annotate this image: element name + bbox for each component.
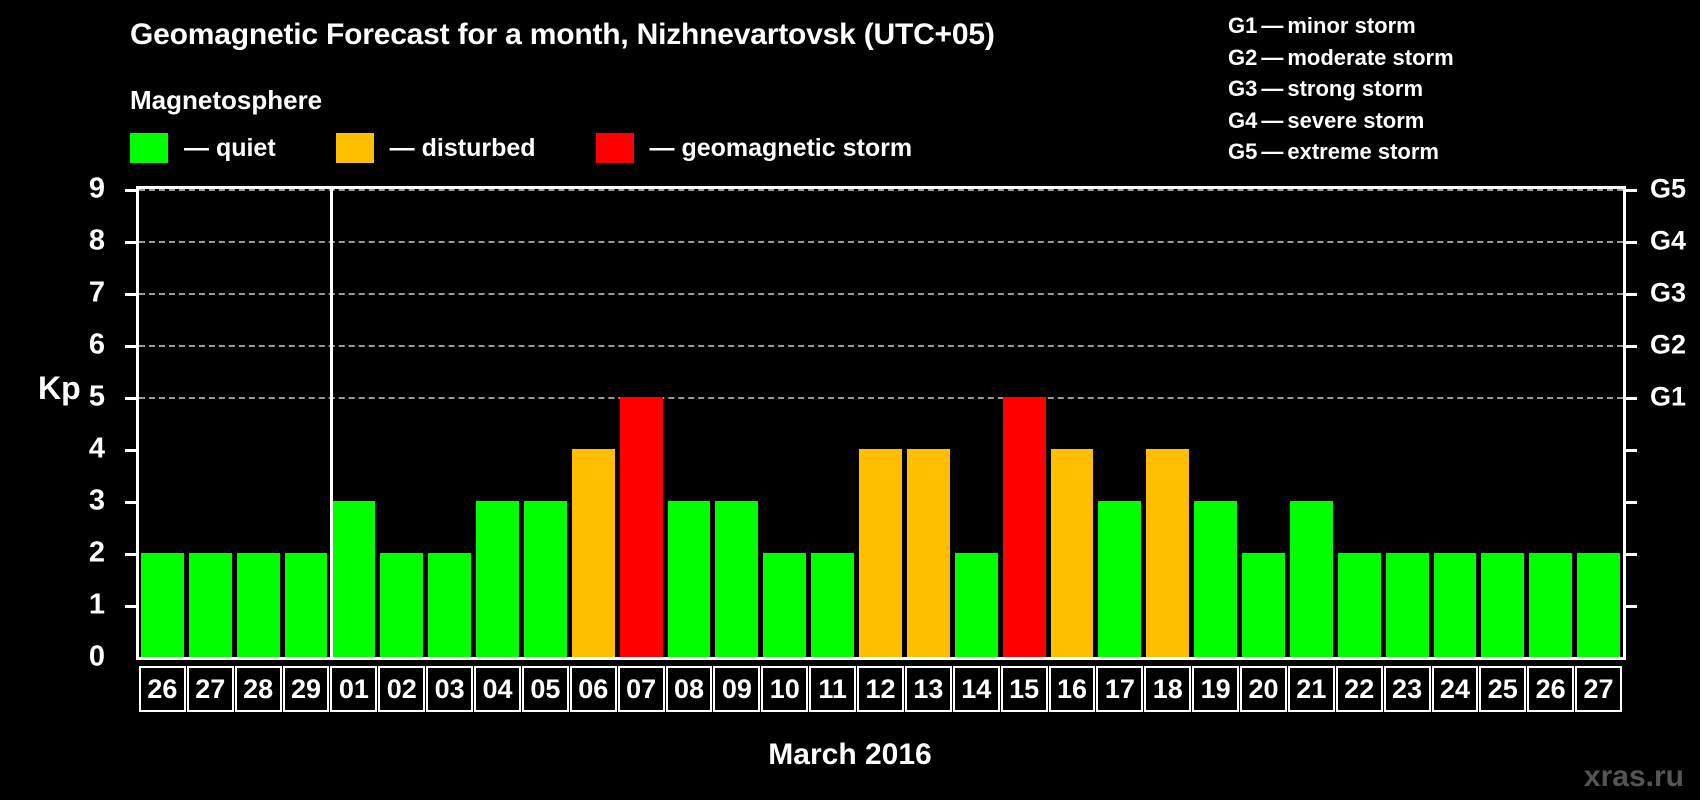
y-tick-left-9 <box>125 189 138 192</box>
g-scale-dash: — <box>1257 10 1287 42</box>
chart-plot-area <box>136 186 1626 660</box>
forecast-divider-line <box>330 189 333 657</box>
g-scale-row-g2: G2—moderate storm <box>1228 42 1454 74</box>
g-scale-code: G1 <box>1228 10 1257 42</box>
g-scale-row-g4: G4—severe storm <box>1228 105 1454 137</box>
date-axis: 2627282901020304050607080910111213141516… <box>136 666 1626 712</box>
g-scale-dash: — <box>1257 73 1287 105</box>
legend-swatch-disturbed <box>336 133 374 163</box>
date-cell-2[interactable]: 28 <box>235 666 282 712</box>
date-cell-9[interactable]: 06 <box>570 666 617 712</box>
g-axis-label-g2: G2 <box>1650 330 1686 361</box>
g-scale-code: G4 <box>1228 105 1257 137</box>
date-cell-20[interactable]: 17 <box>1096 666 1143 712</box>
y-tick-right-7 <box>1624 293 1637 296</box>
bar-12 <box>859 449 902 657</box>
y-tick-left-6 <box>125 345 138 348</box>
legend-label-storm: — geomagnetic storm <box>650 134 913 163</box>
y-tick-right-6 <box>1624 345 1637 348</box>
bar-27 <box>1577 553 1620 657</box>
date-cell-10[interactable]: 07 <box>618 666 665 712</box>
y-tick-left-3 <box>125 501 138 504</box>
bar-01 <box>332 501 375 657</box>
date-cell-19[interactable]: 16 <box>1049 666 1096 712</box>
g-scale-dash: — <box>1257 42 1287 74</box>
y-tick-right-9 <box>1624 189 1637 192</box>
date-cell-21[interactable]: 18 <box>1144 666 1191 712</box>
y-axis-label-7: 7 <box>65 277 105 310</box>
bar-25 <box>1481 553 1524 657</box>
bar-23 <box>1386 553 1429 657</box>
y-axis-label-6: 6 <box>65 329 105 362</box>
g-scale-row-g1: G1—minor storm <box>1228 10 1454 42</box>
g-scale-code: G3 <box>1228 73 1257 105</box>
bar-02 <box>380 553 423 657</box>
bar-10 <box>763 553 806 657</box>
date-cell-4[interactable]: 01 <box>330 666 377 712</box>
y-tick-right-8 <box>1624 241 1637 244</box>
date-cell-8[interactable]: 05 <box>522 666 569 712</box>
bar-15 <box>1003 397 1046 657</box>
date-cell-26[interactable]: 23 <box>1384 666 1431 712</box>
bar-21 <box>1290 501 1333 657</box>
legend-label-quiet: — quiet <box>184 134 276 163</box>
bar-29 <box>285 553 328 657</box>
g-scale-row-g3: G3—strong storm <box>1228 73 1454 105</box>
bar-03 <box>428 553 471 657</box>
y-tick-left-8 <box>125 241 138 244</box>
date-cell-3[interactable]: 29 <box>283 666 330 712</box>
y-tick-right-1 <box>1624 605 1637 608</box>
legend-entry-quiet: — quiet <box>130 133 276 163</box>
date-cell-15[interactable]: 12 <box>857 666 904 712</box>
y-tick-right-5 <box>1624 397 1637 400</box>
bar-11 <box>811 553 854 657</box>
y-axis-label-3: 3 <box>65 485 105 518</box>
date-cell-28[interactable]: 25 <box>1479 666 1526 712</box>
date-cell-1[interactable]: 27 <box>187 666 234 712</box>
activity-legend: — quiet— disturbed— geomagnetic storm <box>130 133 912 163</box>
bar-26 <box>141 553 184 657</box>
bar-06 <box>572 449 615 657</box>
y-axis-label-1: 1 <box>65 589 105 622</box>
y-tick-right-2 <box>1624 553 1637 556</box>
date-cell-12[interactable]: 09 <box>713 666 760 712</box>
bar-28 <box>237 553 280 657</box>
y-tick-left-2 <box>125 553 138 556</box>
g-axis-label-g3: G3 <box>1650 278 1686 309</box>
legend-label-disturbed: — disturbed <box>390 134 536 163</box>
g-scale-description: extreme storm <box>1287 139 1439 164</box>
g-scale-row-g5: G5—extreme storm <box>1228 136 1454 168</box>
date-cell-13[interactable]: 10 <box>761 666 808 712</box>
y-tick-left-7 <box>125 293 138 296</box>
date-cell-11[interactable]: 08 <box>666 666 713 712</box>
y-axis-label-4: 4 <box>65 433 105 466</box>
bars-layer <box>139 189 1623 657</box>
y-tick-right-3 <box>1624 501 1637 504</box>
g-scale-description: minor storm <box>1287 13 1415 38</box>
date-cell-30[interactable]: 27 <box>1575 666 1622 712</box>
watermark: xras.ru <box>1584 760 1684 794</box>
g-scale-description: severe storm <box>1287 108 1424 133</box>
legend-swatch-quiet <box>130 133 168 163</box>
bar-13 <box>907 449 950 657</box>
legend-swatch-storm <box>596 133 634 163</box>
date-cell-5[interactable]: 02 <box>378 666 425 712</box>
legend-entry-storm: — geomagnetic storm <box>596 133 913 163</box>
y-tick-left-4 <box>125 449 138 452</box>
page-title: Geomagnetic Forecast for a month, Nizhne… <box>130 18 995 52</box>
month-label: March 2016 <box>0 738 1700 772</box>
bar-17 <box>1098 501 1141 657</box>
bar-16 <box>1051 449 1094 657</box>
g-scale-code: G2 <box>1228 42 1257 74</box>
y-axis-label-9: 9 <box>65 173 105 206</box>
bar-22 <box>1338 553 1381 657</box>
bar-24 <box>1434 553 1477 657</box>
date-cell-6[interactable]: 03 <box>426 666 473 712</box>
y-tick-left-5 <box>125 397 138 400</box>
g-axis-label-g4: G4 <box>1650 226 1686 257</box>
date-cell-16[interactable]: 13 <box>905 666 952 712</box>
g-scale-description: strong storm <box>1287 76 1423 101</box>
bar-08 <box>668 501 711 657</box>
g-scale-dash: — <box>1257 105 1287 137</box>
bar-05 <box>524 501 567 657</box>
legend-entry-disturbed: — disturbed <box>336 133 536 163</box>
bar-07 <box>620 397 663 657</box>
g-scale-dash: — <box>1257 136 1287 168</box>
g-scale-code: G5 <box>1228 136 1257 168</box>
y-tick-left-1 <box>125 605 138 608</box>
date-cell-29[interactable]: 26 <box>1527 666 1574 712</box>
bar-20 <box>1242 553 1285 657</box>
bar-18 <box>1146 449 1189 657</box>
date-cell-7[interactable]: 04 <box>474 666 521 712</box>
date-cell-17[interactable]: 14 <box>953 666 1000 712</box>
date-cell-22[interactable]: 19 <box>1192 666 1239 712</box>
date-cell-23[interactable]: 20 <box>1240 666 1287 712</box>
y-axis-label-8: 8 <box>65 225 105 258</box>
y-axis-label-2: 2 <box>65 537 105 570</box>
y-axis-label-5: 5 <box>65 381 105 414</box>
bar-27 <box>189 553 232 657</box>
g-axis-label-g5: G5 <box>1650 174 1686 205</box>
g-axis-label-g1: G1 <box>1650 382 1686 413</box>
g-scale-legend: G1—minor stormG2—moderate stormG3—strong… <box>1228 10 1454 168</box>
date-cell-27[interactable]: 24 <box>1432 666 1479 712</box>
bar-04 <box>476 501 519 657</box>
bar-14 <box>955 553 998 657</box>
bar-26 <box>1529 553 1572 657</box>
date-cell-0[interactable]: 26 <box>139 666 186 712</box>
date-cell-24[interactable]: 21 <box>1288 666 1335 712</box>
y-tick-right-4 <box>1624 449 1637 452</box>
bar-19 <box>1194 501 1237 657</box>
y-axis-label-0: 0 <box>65 641 105 674</box>
date-cell-14[interactable]: 11 <box>809 666 856 712</box>
bar-09 <box>715 501 758 657</box>
magnetosphere-label: Magnetosphere <box>130 85 322 116</box>
date-cell-25[interactable]: 22 <box>1336 666 1383 712</box>
g-scale-description: moderate storm <box>1287 45 1453 70</box>
date-cell-18[interactable]: 15 <box>1001 666 1048 712</box>
